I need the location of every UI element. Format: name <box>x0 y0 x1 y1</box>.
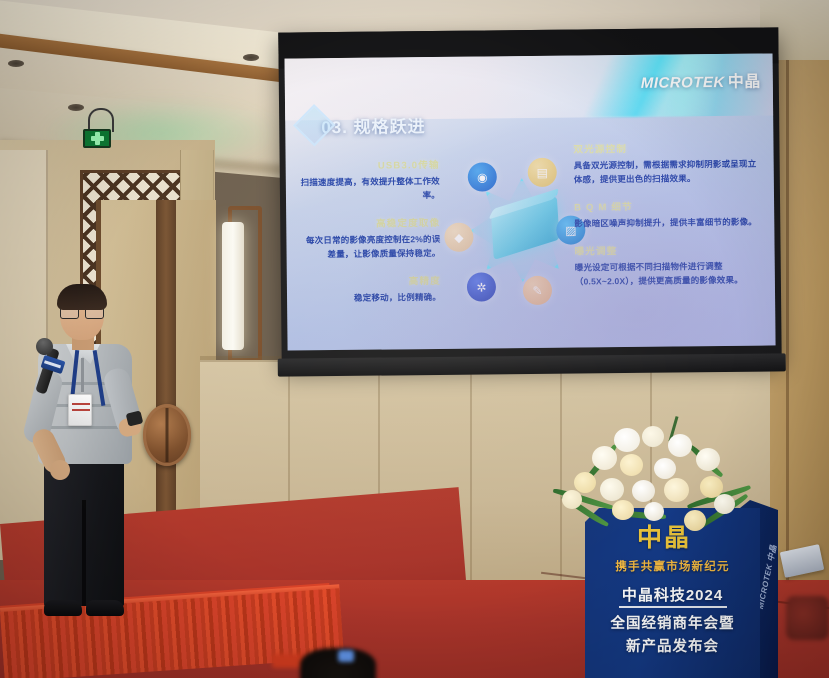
hair <box>57 284 107 310</box>
downlight-icon <box>243 54 259 61</box>
white-rose <box>714 494 735 514</box>
feature-block: 高精度 稳定移动，比例精确。 <box>301 273 441 305</box>
eye-scan-icon: ◉ <box>468 162 497 191</box>
feature-heading: 曝光调整 <box>574 242 762 258</box>
white-lily <box>642 426 664 447</box>
feature-body: 具备双光源控制，需根据需求抑制阴影或呈现立体感，提供更出色的扫描效果。 <box>574 157 762 187</box>
feature-block: B Q M 细节 影像暗区噪声抑制提升，提供丰富细节的影像。 <box>574 198 762 231</box>
white-rose <box>644 502 664 521</box>
flower-arrangement <box>556 424 756 534</box>
name-badge <box>68 394 92 426</box>
white-rose <box>696 448 720 471</box>
white-rose <box>632 480 655 502</box>
cream-rose <box>562 490 582 509</box>
projection-screen: MICROTEK中晶 03. 规格跃进 USB3.0传输 扫描速度提高，有效提升… <box>278 27 781 366</box>
speaker <box>24 288 144 622</box>
foreground-blur-device <box>338 650 354 662</box>
yellow-rose <box>574 472 596 493</box>
yellow-rose <box>612 500 634 520</box>
feature-body: 稳定移动，比例精确。 <box>301 290 441 305</box>
slide-body: USB3.0传输 扫描速度提高，有效提升整体工作效率。 高稳定度取像 每次日常的… <box>285 139 775 350</box>
microtek-logo: MICROTEK中晶 <box>641 68 761 93</box>
feature-heading: 高精度 <box>301 273 441 288</box>
emergency-exit-sign-icon <box>83 129 111 148</box>
podium-title-line1: 中晶科技2024 <box>585 584 760 605</box>
podium-title-line2: 全国经销商年会暨 <box>585 612 760 633</box>
document-lines-icon: ▤ <box>528 158 557 187</box>
badge-line <box>72 409 90 411</box>
white-rose <box>654 458 676 479</box>
color-gamut-icon: ◆ <box>444 223 473 252</box>
feature-block: USB3.0传输 扫描速度提高，有效提升整体工作效率。 <box>300 157 440 203</box>
slide-title-row: 03. 规格跃进 <box>299 109 426 140</box>
feature-heading: 双光源控制 <box>573 140 761 156</box>
shoe-right <box>86 600 124 616</box>
white-lily <box>614 428 640 452</box>
panel-seam <box>470 362 472 588</box>
feature-block: 双光源控制 具备双光源控制，需根据需求抑制阴影或呈现立体感，提供更出色的扫描效果… <box>573 140 761 187</box>
white-rose <box>592 446 617 470</box>
downlight-icon <box>8 60 24 67</box>
feature-body: 影像暗区噪声抑制提升，提供丰富细节的影像。 <box>574 215 762 231</box>
white-rose <box>600 478 624 501</box>
scanner-diagram: ◉ ▤ ◆ ▨ ✲ ✎ <box>443 143 595 335</box>
conference-photo-scene: MICROTEK中晶 03. 规格跃进 USB3.0传输 扫描速度提高，有效提升… <box>0 0 829 678</box>
feature-heading: USB3.0传输 <box>300 157 440 172</box>
door-medallion-icon <box>143 404 191 466</box>
feature-body: 曝光设定可根据不同扫描物件进行调整（0.5X~2.0X），提供更高质量的影像效果… <box>575 259 763 289</box>
podium-title-line3: 新产品发布会 <box>585 635 760 656</box>
gears-icon: ✲ <box>467 272 496 301</box>
badge-line <box>72 403 90 405</box>
wall-sconce-shade-icon <box>222 222 244 350</box>
background-chair <box>786 596 829 640</box>
diamond-icon <box>293 104 335 146</box>
slide-title: 03. 规格跃进 <box>321 112 426 138</box>
cream-rose <box>620 454 643 476</box>
leg-separation <box>82 500 86 606</box>
cream-rose <box>664 478 689 502</box>
exit-cross-glyph <box>91 132 104 145</box>
hand-left <box>50 460 70 480</box>
feature-heading: B Q M 细节 <box>574 198 762 214</box>
feature-body: 每次日常的影像亮度控制在2%的误差量，让影像质量保持稳定。 <box>300 232 440 261</box>
white-lily <box>668 434 692 457</box>
feature-heading: 高稳定度取像 <box>300 215 440 230</box>
slide-left-column: USB3.0传输 扫描速度提高，有效提升整体工作效率。 高稳定度取像 每次日常的… <box>300 157 442 319</box>
presentation-slide: MICROTEK中晶 03. 规格跃进 USB3.0传输 扫描速度提高，有效提升… <box>285 53 776 350</box>
brand-cn: 中晶 <box>728 74 761 91</box>
slide-right-column: 双光源控制 具备双光源控制，需根据需求抑制阴影或呈现立体感，提供更出色的扫描效果… <box>573 140 763 302</box>
shirt-placket <box>81 358 84 392</box>
feature-body: 扫描速度提高，有效提升整体工作效率。 <box>300 174 440 203</box>
feature-block: 高稳定度取像 每次日常的影像亮度控制在2%的误差量，让影像质量保持稳定。 <box>300 215 440 261</box>
shoe-left <box>44 600 82 616</box>
podium-tagline: 携手共赢市场新纪元 <box>585 558 760 574</box>
tools-icon: ✎ <box>523 276 552 305</box>
podium-divider <box>619 606 727 608</box>
yellow-rose <box>684 510 706 531</box>
feature-block: 曝光调整 曝光设定可根据不同扫描物件进行调整（0.5X~2.0X），提供更高质量… <box>574 242 762 289</box>
brand-latin: MICROTEK <box>641 74 725 92</box>
downlight-icon <box>68 104 84 111</box>
